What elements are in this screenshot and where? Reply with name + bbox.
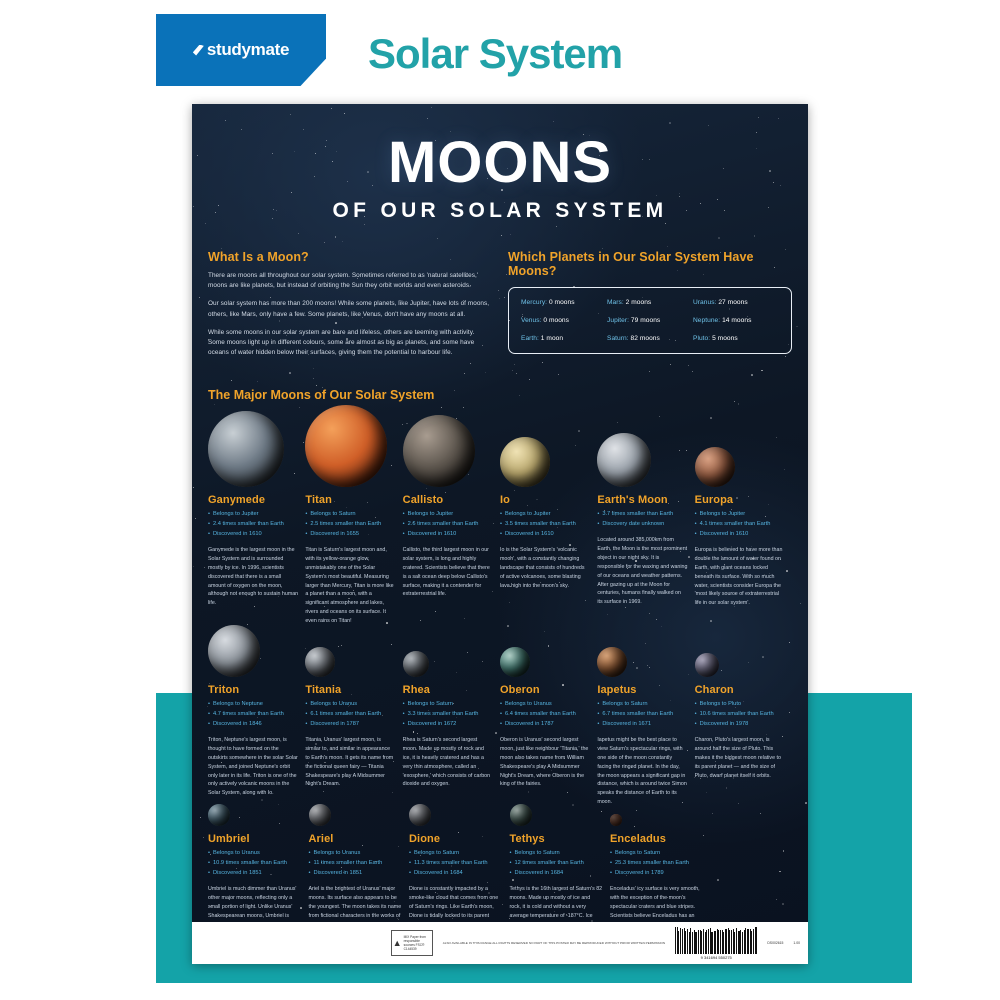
sku-left: DS002615 <box>767 941 783 945</box>
moon-description: Titan is Saturn's largest moon and, with… <box>305 546 395 626</box>
tree-icon: ▲ <box>393 939 404 948</box>
moon-fact: Belongs to Uranus <box>305 700 395 710</box>
moon-count-item: Mars: 2 moons <box>607 299 693 306</box>
moon-fact: 6.4 times smaller than Earth <box>500 710 590 720</box>
moon-card[interactable]: Earth's Moon3.7 times smaller than Earth… <box>597 402 694 626</box>
planet-moon-count: 5 moons <box>712 335 738 342</box>
moon-fact-list: Belongs to Saturn11.3 times smaller than… <box>409 849 503 879</box>
moon-name: Ganymede <box>208 494 298 506</box>
moon-fact: Discovered in 1655 <box>305 530 395 540</box>
poster-footer: ▲ MIX Paper from responsible sources FSC… <box>192 922 808 964</box>
moon-fact: Discovered in 1671 <box>597 720 687 730</box>
moon-fact: Discovered in 1684 <box>510 869 604 879</box>
moon-card[interactable]: IapetusBelongs to Saturn6.7 times smalle… <box>597 626 694 807</box>
intro-paragraph: While some moons in our solar system are… <box>208 328 492 359</box>
moon-fact-list: Belongs to Uranus6.1 times smaller than … <box>305 700 395 730</box>
moon-name: Enceladus <box>610 833 704 845</box>
fsc-text: MIX Paper from responsible sources FSC® … <box>404 935 431 951</box>
moon-sphere-charon-icon <box>695 653 719 677</box>
moon-sphere-titan-icon <box>305 405 387 487</box>
studymate-logo: studymate <box>156 14 326 86</box>
planet-name: Saturn: <box>607 335 629 342</box>
major-moons-heading: The Major Moons of Our Solar System <box>192 366 808 402</box>
moon-card[interactable]: IoBelongs to Jupiter3.5 times smaller th… <box>500 402 597 626</box>
barcode-number: 9 341694 550275 <box>675 955 757 960</box>
moon-fact-list: Belongs to Saturn2.5 times smaller than … <box>305 510 395 540</box>
poster-header: MOONS OF OUR SOLAR SYSTEM <box>192 104 808 223</box>
intro-paragraph: Our solar system has more than 200 moons… <box>208 299 492 320</box>
moon-fact: 6.7 times smaller than Earth <box>597 710 687 720</box>
moon-description: Ganymede is the largest moon in the Sola… <box>208 546 298 608</box>
moon-fact: 12 times smaller than Earth <box>510 859 604 869</box>
moon-grid: GanymedeBelongs to Jupiter2.4 times smal… <box>192 402 808 964</box>
moon-fact: Discovered in 1787 <box>500 720 590 730</box>
moon-fact: 2.4 times smaller than Earth <box>208 520 298 530</box>
swoosh-icon <box>193 45 204 56</box>
moon-name: Dione <box>409 833 503 845</box>
poster-page: studymate Solar System MOONS OF OUR SOLA… <box>0 0 1000 1000</box>
moon-counts-box: Mercury: 0 moonsMars: 2 moonsUranus: 27 … <box>508 287 792 354</box>
brand-wordmark: studymate <box>193 40 289 60</box>
moon-name: Charon <box>695 684 785 696</box>
moon-fact: Belongs to Saturn <box>409 849 503 859</box>
moon-fact: Belongs to Saturn <box>403 700 493 710</box>
moon-fact: Discovered in 1851 <box>309 869 403 879</box>
moon-fact-list: Belongs to Uranus10.9 times smaller than… <box>208 849 302 879</box>
moon-fact: Belongs to Saturn <box>305 510 395 520</box>
moon-fact-list: Belongs to Pluto10.6 times smaller than … <box>695 700 785 730</box>
moon-row: GanymedeBelongs to Jupiter2.4 times smal… <box>208 402 792 626</box>
moon-fact: Discovered in 1610 <box>695 530 785 540</box>
moon-fact: Belongs to Saturn <box>510 849 604 859</box>
moon-fact-list: Belongs to Neptune4.7 times smaller than… <box>208 700 298 730</box>
moon-fact: Belongs to Neptune <box>208 700 298 710</box>
moon-fact: 10.9 times smaller than Earth <box>208 859 302 869</box>
moon-fact: 25.3 times smaller than Earth <box>610 859 704 869</box>
moon-count-item: Earth: 1 moon <box>521 335 607 342</box>
moon-sphere-triton-icon <box>208 625 260 677</box>
moon-sphere-callisto-icon <box>403 415 475 487</box>
moon-name: Ariel <box>309 833 403 845</box>
moon-count-item: Pluto: 5 moons <box>693 335 779 342</box>
moon-fact-list: Belongs to Saturn25.3 times smaller than… <box>610 849 704 879</box>
planet-name: Neptune: <box>693 317 720 324</box>
moon-fact: 3.3 times smaller than Earth <box>403 710 493 720</box>
moon-fact: 6.1 times smaller than Earth <box>305 710 395 720</box>
moon-fact-list: Belongs to Uranus6.4 times smaller than … <box>500 700 590 730</box>
moon-fact: Belongs to Uranus <box>500 700 590 710</box>
intro-section: What Is a Moon? There are moons all thro… <box>192 223 808 366</box>
moon-fact: Discovery date unknown <box>597 520 687 530</box>
poster-title-main: MOONS <box>192 134 808 192</box>
moon-fact: Belongs to Saturn <box>597 700 687 710</box>
moon-description: Oberon is Uranus' second largest moon, j… <box>500 736 590 789</box>
moon-fact: Discovered in 1672 <box>403 720 493 730</box>
legal-text: ALSO AVAILABLE IN THIS RANGE ALL RIGHTS … <box>443 941 665 945</box>
moon-count-item: Neptune: 14 moons <box>693 317 779 324</box>
moon-card[interactable]: EuropaBelongs to Jupiter4.1 times smalle… <box>695 402 792 626</box>
moon-count-item: Saturn: 82 moons <box>607 335 693 342</box>
moon-card[interactable]: TritonBelongs to Neptune4.7 times smalle… <box>208 626 305 807</box>
moon-sphere-titania-icon <box>305 647 335 677</box>
barcode-block: 9 341694 550275 <box>675 927 757 960</box>
moon-fact: Discovered in 1978 <box>695 720 785 730</box>
moon-name: Europa <box>695 494 785 506</box>
moons-poster: MOONS OF OUR SOLAR SYSTEM What Is a Moon… <box>192 104 808 964</box>
moon-fact: Belongs to Uranus <box>309 849 403 859</box>
moon-sphere-enceladus-icon <box>610 814 622 826</box>
moon-card[interactable]: RheaBelongs to Saturn3.3 times smaller t… <box>403 626 500 807</box>
moon-description: Located around 385,000km from Earth, the… <box>597 536 687 607</box>
moon-description: Triton, Neptune's largest moon, is thoug… <box>208 736 298 798</box>
moon-sphere-earth-s-moon-icon <box>597 433 651 487</box>
moon-sphere-ganymede-icon <box>208 411 284 487</box>
moon-description: Io is the Solar System's 'volcanic moon'… <box>500 546 590 590</box>
moon-counts-heading: Which Planets in Our Solar System Have M… <box>508 250 792 278</box>
moon-fact-list: 3.7 times smaller than EarthDiscovery da… <box>597 510 687 530</box>
moon-count-item: Jupiter: 79 moons <box>607 317 693 324</box>
moon-name: Tethys <box>510 833 604 845</box>
moon-name: Titan <box>305 494 395 506</box>
moon-fact-list: Belongs to Uranus11 times smaller than E… <box>309 849 403 879</box>
planet-moon-count: 82 moons <box>631 335 660 342</box>
moon-name: Umbriel <box>208 833 302 845</box>
planet-name: Uranus: <box>693 299 716 306</box>
moon-fact: Discovered in 1851 <box>208 869 302 879</box>
moon-fact-list: Belongs to Jupiter3.5 times smaller than… <box>500 510 590 540</box>
moon-description: Europa is believed to have more than dou… <box>695 546 785 608</box>
moon-sphere-oberon-icon <box>500 647 530 677</box>
moon-sphere-tethys-icon <box>510 804 532 826</box>
moon-name: Callisto <box>403 494 493 506</box>
sku-right: 1.00 <box>793 941 800 945</box>
page-title: Solar System <box>368 30 622 78</box>
moon-sphere-ariel-icon <box>309 804 331 826</box>
moon-fact: Belongs to Jupiter <box>403 510 493 520</box>
planet-name: Mars: <box>607 299 624 306</box>
planet-moon-count: 27 moons <box>718 299 747 306</box>
moon-fact-list: Belongs to Jupiter4.1 times smaller than… <box>695 510 785 540</box>
moon-sphere-europa-icon <box>695 447 735 487</box>
moon-card[interactable]: GanymedeBelongs to Jupiter2.4 times smal… <box>208 402 305 626</box>
moon-fact: 3.7 times smaller than Earth <box>597 510 687 520</box>
moon-fact: Discovered in 1789 <box>610 869 704 879</box>
moon-fact: 4.1 times smaller than Earth <box>695 520 785 530</box>
moon-row: TritonBelongs to Neptune4.7 times smalle… <box>208 626 792 807</box>
moon-counts-column: Which Planets in Our Solar System Have M… <box>508 250 792 366</box>
moon-fact: Discovered in 1610 <box>208 530 298 540</box>
moon-card[interactable]: OberonBelongs to Uranus6.4 times smaller… <box>500 626 597 807</box>
planet-moon-count: 79 moons <box>631 317 660 324</box>
barcode-icon <box>675 927 757 954</box>
moon-card[interactable]: TitanBelongs to Saturn2.5 times smaller … <box>305 402 402 626</box>
brand-name: studymate <box>207 40 289 60</box>
moon-fact: 4.7 times smaller than Earth <box>208 710 298 720</box>
moon-fact-list: Belongs to Jupiter2.6 times smaller than… <box>403 510 493 540</box>
moon-name: Earth's Moon <box>597 494 687 506</box>
moon-fact: Belongs to Jupiter <box>695 510 785 520</box>
moon-card[interactable]: CallistoBelongs to Jupiter2.6 times smal… <box>403 402 500 626</box>
planet-name: Pluto: <box>693 335 710 342</box>
moon-name: Io <box>500 494 590 506</box>
moon-fact: 10.6 times smaller than Earth <box>695 710 785 720</box>
planet-moon-count: 1 moon <box>541 335 563 342</box>
moon-fact: Belongs to Uranus <box>208 849 302 859</box>
moon-fact: Discovered in 1610 <box>500 530 590 540</box>
moon-count-item: Uranus: 27 moons <box>693 299 779 306</box>
moon-fact: 11.3 times smaller than Earth <box>409 859 503 869</box>
moon-sphere-io-icon <box>500 437 550 487</box>
moon-description: Iapetus might be the best place to view … <box>597 736 687 807</box>
moon-name: Triton <box>208 684 298 696</box>
moon-card[interactable]: TitaniaBelongs to Uranus6.1 times smalle… <box>305 626 402 807</box>
moon-fact: Discovered in 1787 <box>305 720 395 730</box>
planet-moon-count: 2 moons <box>626 299 652 306</box>
moon-fact: Belongs to Jupiter <box>500 510 590 520</box>
moon-description: Titania, Uranus' largest moon, is simila… <box>305 736 395 789</box>
moon-sphere-dione-icon <box>409 804 431 826</box>
moon-sphere-umbriel-icon <box>208 804 230 826</box>
moon-fact: Belongs to Jupiter <box>208 510 298 520</box>
planet-moon-count: 14 moons <box>722 317 751 324</box>
planet-name: Venus: <box>521 317 541 324</box>
moon-sphere-rhea-icon <box>403 651 429 677</box>
intro-paragraph: There are moons all throughout our solar… <box>208 271 492 292</box>
planet-name: Jupiter: <box>607 317 629 324</box>
moon-fact: Discovered in 1610 <box>403 530 493 540</box>
planet-moon-count: 0 moons <box>549 299 575 306</box>
moon-counts-grid: Mercury: 0 moonsMars: 2 moonsUranus: 27 … <box>521 299 779 342</box>
moon-sphere-iapetus-icon <box>597 647 627 677</box>
what-is-a-moon-column: What Is a Moon? There are moons all thro… <box>208 250 492 366</box>
moon-description: Charon, Pluto's largest moon, is around … <box>695 736 785 780</box>
moon-name: Oberon <box>500 684 590 696</box>
fsc-certification-logo: ▲ MIX Paper from responsible sources FSC… <box>391 930 433 956</box>
moon-fact: Discovered in 1684 <box>409 869 503 879</box>
moon-fact: 3.5 times smaller than Earth <box>500 520 590 530</box>
moon-fact: Belongs to Pluto <box>695 700 785 710</box>
moon-fact: 11 times smaller than Earth <box>309 859 403 869</box>
moon-count-item: Mercury: 0 moons <box>521 299 607 306</box>
moon-card[interactable]: CharonBelongs to Pluto10.6 times smaller… <box>695 626 792 807</box>
moon-count-item: Venus: 0 moons <box>521 317 607 324</box>
moon-fact: 2.6 times smaller than Earth <box>403 520 493 530</box>
moon-description: Rhea is Saturn's second largest moon. Ma… <box>403 736 493 789</box>
moon-fact-list: Belongs to Saturn3.3 times smaller than … <box>403 700 493 730</box>
moon-fact-list: Belongs to Saturn12 times smaller than E… <box>510 849 604 879</box>
poster-title-sub: OF OUR SOLAR SYSTEM <box>192 199 808 223</box>
moon-description: Callisto, the third largest moon in our … <box>403 546 493 599</box>
moon-fact: 2.5 times smaller than Earth <box>305 520 395 530</box>
moon-fact: Discovered in 1846 <box>208 720 298 730</box>
what-is-a-moon-heading: What Is a Moon? <box>208 250 492 264</box>
moon-fact: Belongs to Saturn <box>610 849 704 859</box>
planet-name: Earth: <box>521 335 539 342</box>
planet-name: Mercury: <box>521 299 547 306</box>
moon-name: Iapetus <box>597 684 687 696</box>
moon-fact-list: Belongs to Jupiter2.4 times smaller than… <box>208 510 298 540</box>
moon-name: Rhea <box>403 684 493 696</box>
moon-name: Titania <box>305 684 395 696</box>
planet-moon-count: 0 moons <box>543 317 569 324</box>
moon-fact-list: Belongs to Saturn6.7 times smaller than … <box>597 700 687 730</box>
